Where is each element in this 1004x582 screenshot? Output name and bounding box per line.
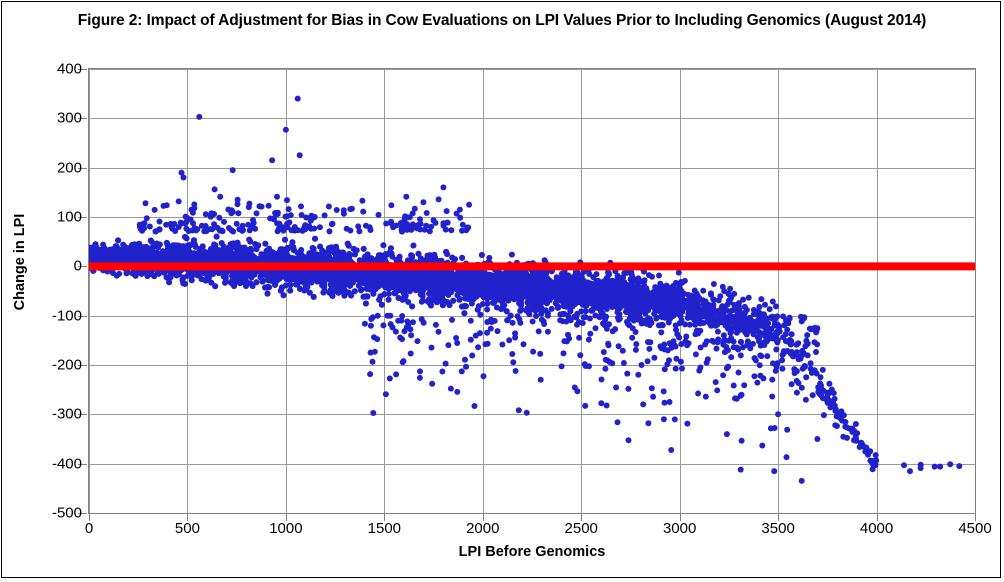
x-axis-tick-label: 0 xyxy=(59,520,119,537)
gridline-vertical xyxy=(975,69,976,513)
y-axis-tick-label: 400 xyxy=(30,61,82,78)
x-axis-tick-label: 1500 xyxy=(354,520,414,537)
x-axis-tick-label: 3000 xyxy=(650,520,710,537)
chart-title: Figure 2: Impact of Adjustment for Bias … xyxy=(62,10,942,31)
zero-line-svg xyxy=(89,69,975,513)
x-axis-title: LPI Before Genomics xyxy=(88,544,976,560)
x-axis-tick-label: 500 xyxy=(157,520,217,537)
y-axis-tick-label: -200 xyxy=(30,357,82,374)
x-axis-tick-label: 2500 xyxy=(551,520,611,537)
figure-container: Figure 2: Impact of Adjustment for Bias … xyxy=(1,1,1001,578)
zero-reference-line xyxy=(89,69,975,513)
y-axis-tick-label: 100 xyxy=(30,209,82,226)
y-axis-tick-label: 300 xyxy=(30,110,82,127)
y-axis-tick-label: -100 xyxy=(30,307,82,324)
y-axis-tick-label: -400 xyxy=(30,455,82,472)
y-axis-tick-labels: 4003002001000-100-200-300-400-500 xyxy=(26,68,82,514)
y-axis-tick-label: -300 xyxy=(30,406,82,423)
x-axis-tick-label: 2000 xyxy=(453,520,513,537)
y-axis-tick-label: 200 xyxy=(30,159,82,176)
x-axis-tick-label: 3500 xyxy=(748,520,808,537)
y-axis-tick-label: 0 xyxy=(30,258,82,275)
x-axis-tick-label: 4500 xyxy=(945,520,1004,537)
x-axis-tick-label: 1000 xyxy=(256,520,316,537)
y-axis-tick-label: -500 xyxy=(30,505,82,522)
plot-area xyxy=(88,68,976,514)
x-axis-tick-label: 4000 xyxy=(847,520,907,537)
x-axis-tick-labels: 050010001500200025003000350040004500 xyxy=(88,516,976,540)
